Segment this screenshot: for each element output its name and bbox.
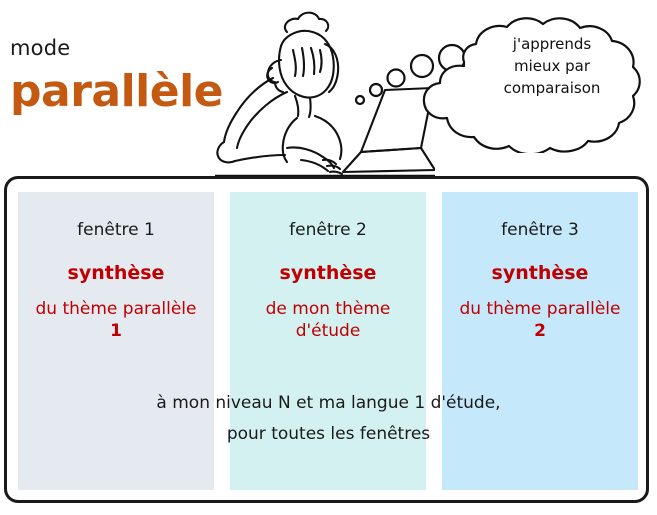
thought-bubble-line-1: j'apprends xyxy=(480,34,624,56)
thought-bubble-line-2: mieux par xyxy=(480,56,624,78)
window-2-label: fenêtre 2 xyxy=(230,220,426,240)
window-column-1[interactable]: fenêtre 1 synthèse du thème parallèle 1 xyxy=(18,192,214,490)
window-3-synthesis-label: synthèse xyxy=(442,262,638,284)
window-1-synthesis-label: synthèse xyxy=(18,262,214,284)
window-3-theme: du thème parallèle 2 xyxy=(442,298,638,342)
window-1-theme: du thème parallèle 1 xyxy=(18,298,214,342)
window-1-theme-line-2: 1 xyxy=(110,321,122,341)
mode-label: mode xyxy=(10,36,70,60)
window-2-synthesis-label: synthèse xyxy=(230,262,426,284)
window-3-theme-line-1: du thème parallèle xyxy=(460,299,621,319)
thought-bubble-line-3: comparaison xyxy=(480,78,624,100)
windows-column-group: fenêtre 1 synthèse du thème parallèle 1 … xyxy=(18,192,639,490)
window-column-2[interactable]: fenêtre 2 synthèse de mon thème d'étude xyxy=(230,192,426,490)
window-2-theme-line-1: de mon thème xyxy=(266,299,391,319)
window-1-theme-line-1: du thème parallèle xyxy=(36,299,197,319)
window-2-theme-line-2: d'étude xyxy=(296,321,361,341)
header-band: mode parallèle xyxy=(0,0,657,176)
window-2-theme: de mon thème d'étude xyxy=(230,298,426,342)
window-1-label: fenêtre 1 xyxy=(18,220,214,240)
thought-bubble-text: j'apprends mieux par comparaison xyxy=(480,34,624,99)
window-3-theme-line-2: 2 xyxy=(534,321,546,341)
window-3-label: fenêtre 3 xyxy=(442,220,638,240)
thought-bubble: j'apprends mieux par comparaison xyxy=(352,8,652,153)
window-column-3[interactable]: fenêtre 3 synthèse du thème parallèle 2 xyxy=(442,192,638,490)
mode-title: parallèle xyxy=(10,70,223,114)
